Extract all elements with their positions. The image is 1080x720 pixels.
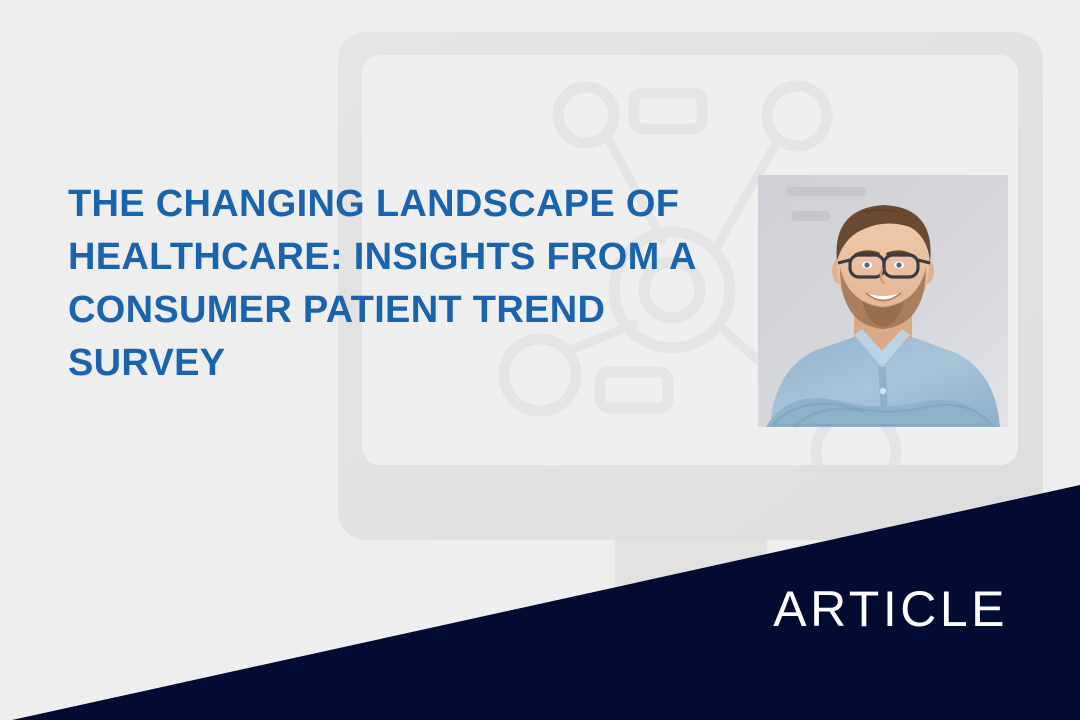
portrait-photo <box>758 175 1008 427</box>
portrait-illustration <box>758 175 1008 427</box>
monitor-stand <box>615 500 767 602</box>
node-circle-top-left <box>558 87 614 143</box>
node-circle-top-right <box>767 86 827 146</box>
banner-label: ARTICLE <box>773 584 1008 634</box>
page-title: THE CHANGING LANDSCAPE OF HEALTHCARE: IN… <box>68 178 758 390</box>
pill-top <box>634 93 702 129</box>
article-banner-graphic: THE CHANGING LANDSCAPE OF HEALTHCARE: IN… <box>0 0 1080 720</box>
title-block: THE CHANGING LANDSCAPE OF HEALTHCARE: IN… <box>68 178 758 390</box>
